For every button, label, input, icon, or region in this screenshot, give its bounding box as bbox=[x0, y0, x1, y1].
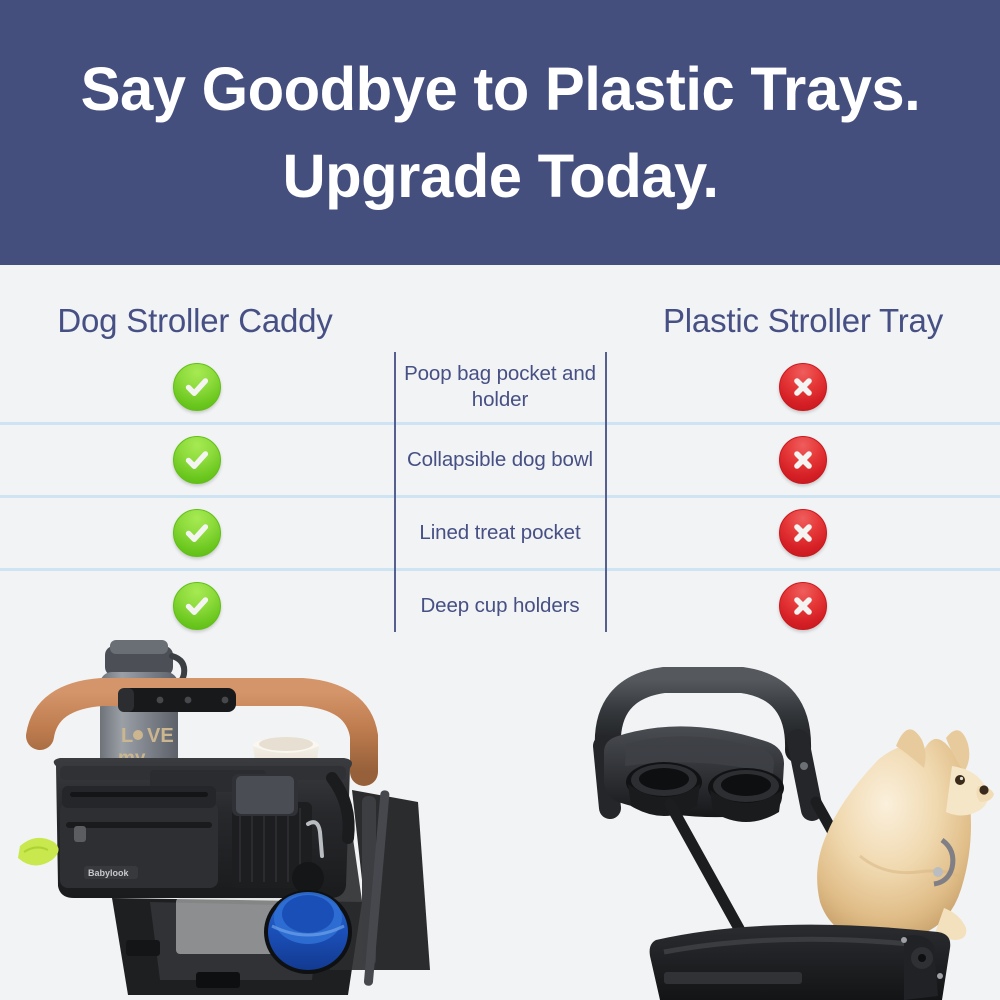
cell-left-mark bbox=[0, 582, 394, 630]
column-title-left: Dog Stroller Caddy bbox=[0, 302, 390, 340]
green-check-circle-icon bbox=[173, 436, 221, 484]
red-cross-circle-icon bbox=[779, 509, 827, 557]
cell-left-mark bbox=[0, 436, 394, 484]
headline-line-1: Say Goodbye to Plastic Trays. bbox=[80, 46, 920, 133]
green-check-circle-icon bbox=[173, 509, 221, 557]
infographic-page: Say Goodbye to Plastic Trays. Upgrade To… bbox=[0, 0, 1000, 1000]
table-row: Lined treat pocket bbox=[0, 495, 1000, 568]
column-divider-right bbox=[605, 352, 607, 632]
feature-label: Deep cup holders bbox=[394, 593, 606, 619]
feature-label: Poop bag pocket and holder bbox=[394, 361, 606, 413]
red-cross-circle-icon bbox=[779, 582, 827, 630]
column-title-right: Plastic Stroller Tray bbox=[606, 302, 1000, 340]
green-check-circle-icon bbox=[173, 582, 221, 630]
headline-line-2: Upgrade Today. bbox=[282, 133, 718, 220]
feature-label: Collapsible dog bowl bbox=[394, 447, 606, 473]
cell-right-mark bbox=[606, 509, 1000, 557]
cell-left-mark bbox=[0, 363, 394, 411]
svg-text:Babylook: Babylook bbox=[88, 868, 130, 878]
cell-left-mark bbox=[0, 509, 394, 557]
green-check-circle-icon bbox=[173, 363, 221, 411]
red-cross-circle-icon bbox=[779, 363, 827, 411]
plastic-stroller-tray-photo bbox=[560, 640, 1000, 1000]
table-row: Poop bag pocket and holder bbox=[0, 352, 1000, 422]
feature-label: Lined treat pocket bbox=[394, 520, 606, 546]
cell-right-mark bbox=[606, 436, 1000, 484]
column-divider-left bbox=[394, 352, 396, 632]
table-row: Collapsible dog bowl bbox=[0, 422, 1000, 495]
svg-text:L: L bbox=[121, 725, 133, 747]
header-banner: Say Goodbye to Plastic Trays. Upgrade To… bbox=[0, 0, 1000, 265]
cell-right-mark bbox=[606, 363, 1000, 411]
svg-text:VE: VE bbox=[147, 725, 174, 747]
cell-right-mark bbox=[606, 582, 1000, 630]
comparison-table: Poop bag pocket and holder Collapsible d… bbox=[0, 352, 1000, 632]
table-row: Deep cup holders bbox=[0, 568, 1000, 641]
dog-stroller-caddy-photo: L VE my Bab bbox=[0, 640, 500, 1000]
red-cross-circle-icon bbox=[779, 436, 827, 484]
